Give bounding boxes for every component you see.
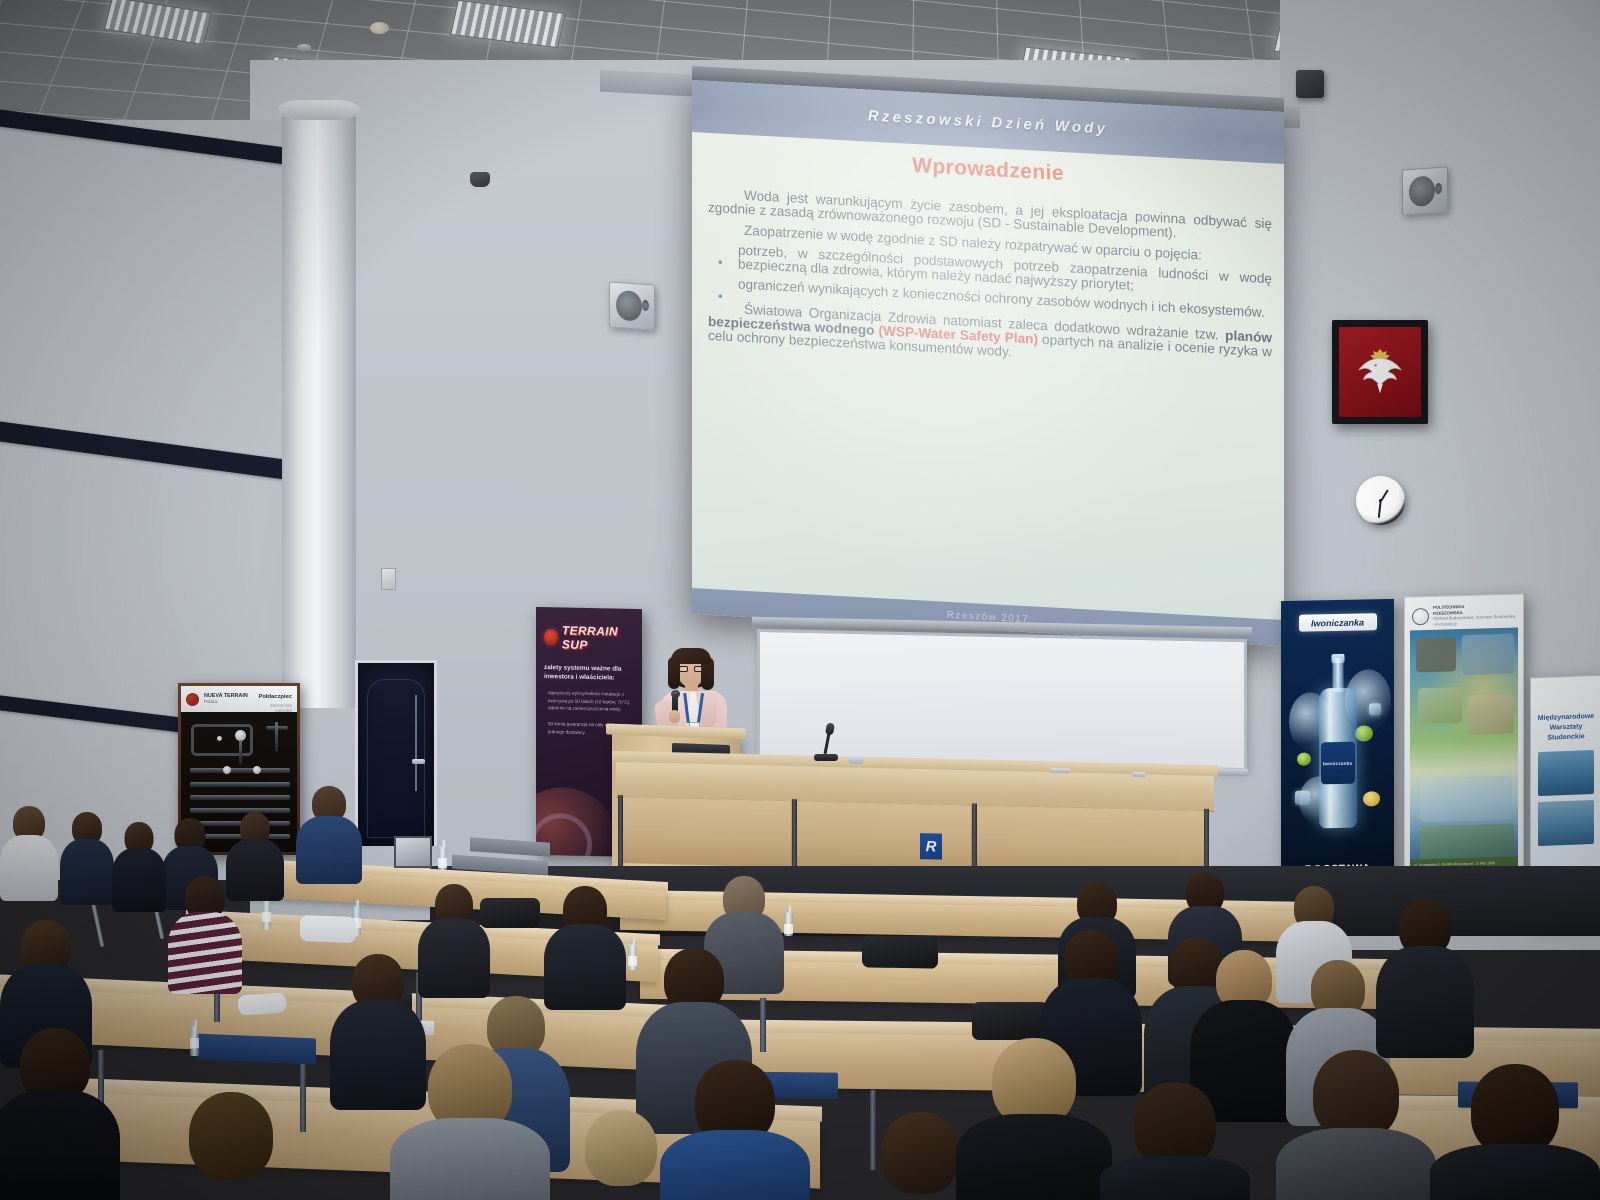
polish-coat-of-arms-emblem — [1332, 320, 1428, 424]
desk-object — [848, 756, 864, 764]
audience-member — [956, 1038, 1112, 1200]
person-torso — [0, 835, 58, 901]
demo-brand-sub: Polska — [204, 699, 217, 704]
person-torso — [660, 1130, 810, 1200]
person-torso — [60, 839, 114, 905]
person-torso — [112, 848, 166, 912]
person-head — [585, 1110, 657, 1186]
audience-member — [1100, 1082, 1250, 1200]
structural-column — [282, 108, 356, 708]
presentation-slide: Rzeszowski Dzień Wody Wprowadzenie Woda … — [692, 80, 1284, 646]
terrain-badge-icon — [544, 629, 558, 645]
presenter-desk: R — [612, 751, 1218, 877]
banner-iwoniczanka: Iwoniczanka Iwoniczanka Z DOSTAWĄ DO DOM… — [1281, 599, 1394, 911]
lemon-slice-icon — [1363, 791, 1380, 806]
audience-member — [544, 886, 626, 1004]
pipe-row — [190, 782, 290, 787]
audience-member — [0, 806, 58, 898]
lecture-hall-door[interactable] — [355, 660, 437, 846]
water-bottle[interactable] — [262, 900, 271, 930]
lime-slice-icon — [1297, 753, 1311, 766]
slide-body: Woda jest warunkującym życie zasobem, a … — [708, 187, 1272, 380]
person-head — [1471, 1064, 1559, 1156]
warsztaty-photo-2 — [1538, 800, 1594, 846]
wall-switch-plate[interactable] — [381, 568, 396, 590]
audience-member — [156, 1092, 306, 1200]
presenter-hand — [669, 710, 680, 723]
person-torso — [1376, 946, 1474, 1058]
person-torso — [168, 912, 242, 994]
audience-member — [390, 1044, 550, 1200]
pipe-joint-icon — [253, 766, 261, 774]
wall-speaker-left — [609, 281, 655, 330]
terrain-brand-name: TERRAIN SUP — [562, 623, 636, 653]
glasses-lens-right — [694, 666, 703, 672]
pipe-loop — [191, 724, 253, 756]
audience-member — [168, 876, 242, 988]
desk-object — [1132, 772, 1146, 777]
org-line-3: Wydział Budownictwa, Inżynierii Środowis… — [1433, 614, 1517, 628]
terrain-headline: zalety systemu ważne dla inwestora i wła… — [544, 664, 634, 683]
glasses-lens-left — [679, 666, 688, 672]
bench-leg — [760, 998, 766, 1052]
collage-photo — [1468, 694, 1514, 735]
demo-board-brand: NUEVA TERRAIN Polska — [204, 693, 253, 705]
pipe-row — [190, 795, 290, 800]
audience-member — [1430, 1064, 1600, 1200]
projector-mount — [1296, 70, 1324, 98]
collage-photo — [1416, 637, 1456, 672]
bottle-label: Iwoniczanka — [1321, 742, 1355, 785]
ice-cube-icon — [1369, 703, 1381, 715]
desk-panel — [620, 797, 792, 867]
eco-banner-titles: POLITECHNIKA RZESZOWSKA Wydział Budownic… — [1433, 603, 1517, 628]
person-torso — [0, 1090, 120, 1200]
pipe-manifold — [275, 722, 278, 752]
warsztaty-line-3: Studenckie — [1537, 732, 1595, 744]
lecture-hall-photo: Rzeszowski Dzień Wody Wprowadzenie Woda … — [0, 0, 1600, 1200]
bench-seat — [196, 1033, 316, 1064]
wall-clock — [1356, 476, 1405, 525]
desk-leg — [972, 803, 977, 875]
microphone-capsule — [825, 722, 835, 735]
eco-banner-header: POLITECHNIKA RZESZOWSKA Wydział Budownic… — [1405, 594, 1523, 628]
warsztaty-title: Międzynarodowe Warsztaty Studenckie — [1537, 712, 1595, 745]
person-head — [992, 1038, 1076, 1126]
glasses-icon — [679, 666, 703, 672]
audience-member — [60, 812, 114, 902]
clock-center-pin — [1379, 499, 1382, 502]
water-bottle[interactable] — [438, 846, 447, 870]
framed-photo — [394, 836, 432, 868]
terrain-logo-row: TERRAIN SUP — [536, 607, 642, 653]
audience-member — [0, 1028, 120, 1200]
door-handle[interactable] — [412, 759, 425, 764]
eagle-icon — [1349, 341, 1411, 403]
person-torso — [296, 816, 362, 884]
desk-object — [1050, 768, 1070, 773]
microphone-base — [814, 754, 838, 761]
person-torso — [1276, 1128, 1436, 1200]
demo-brand-name: NUEVA TERRAIN — [204, 693, 248, 699]
audience-member — [1376, 900, 1474, 1050]
handbag — [972, 1002, 1048, 1040]
ice-cube-icon — [1295, 791, 1310, 805]
gooseneck-microphone — [806, 726, 848, 770]
person-head — [881, 1112, 959, 1194]
person-torso — [1100, 1156, 1250, 1200]
demo-brand2-name: Połdaczpiec — [258, 694, 292, 700]
audience-member — [660, 1060, 810, 1200]
audience-member — [296, 786, 362, 880]
column-capital — [278, 100, 360, 120]
speaker-tweeter — [1435, 183, 1442, 195]
audience-member — [112, 822, 166, 910]
speaker-tweeter — [642, 300, 649, 312]
pipe-vertical-drop — [239, 740, 242, 764]
nueva-terrain-logo-icon — [186, 693, 199, 706]
speaker-grille — [616, 290, 642, 322]
slide-header-text: Rzeszowski Dzień Wody — [868, 107, 1108, 137]
eco-banner-photo-collage — [1410, 627, 1518, 872]
person-head — [1313, 1050, 1399, 1140]
collage-photo — [1462, 634, 1514, 675]
collage-photo — [1420, 776, 1512, 823]
white-scarf — [237, 992, 286, 1015]
security-camera-icon — [470, 172, 490, 187]
iwoniczanka-logo: Iwoniczanka — [1299, 613, 1377, 631]
ceiling-fixture — [297, 44, 311, 51]
pipe-joint-icon — [223, 766, 231, 774]
person-torso — [1430, 1144, 1600, 1200]
projection-screen: Rzeszowski Dzień Wody Wprowadzenie Woda … — [692, 80, 1284, 646]
water-bottle[interactable] — [190, 1026, 199, 1056]
desk-leg — [792, 799, 797, 871]
person-torso — [390, 1118, 550, 1200]
laptop-bag — [862, 935, 938, 968]
water-bottle-graphic: Iwoniczanka — [1319, 658, 1357, 829]
desk-leg — [618, 795, 623, 867]
presenter-fringe — [671, 648, 711, 664]
clock-minute-hand — [1378, 500, 1381, 517]
terrain-bullet-1: najwyższej wytrzymałości instalacje z tw… — [548, 689, 634, 714]
wall-speaker-right — [1402, 166, 1448, 215]
person-torso — [956, 1114, 1112, 1200]
desk-panel — [796, 801, 972, 871]
pipe-row — [190, 768, 290, 773]
desk-university-logo-icon: R — [920, 833, 942, 860]
speaker-grille — [1409, 175, 1435, 207]
lime-slice-icon — [1355, 725, 1373, 741]
collage-photo — [1418, 687, 1462, 724]
water-bottle[interactable] — [784, 912, 793, 936]
emblem-red-field — [1339, 327, 1421, 417]
door-push-bar — [415, 695, 417, 791]
warsztaty-photo-1 — [1538, 750, 1594, 796]
audience-member — [418, 884, 490, 992]
audience-member — [1276, 1050, 1436, 1200]
demo-board-brand2: Połdaczpiec Montaż bez narzędzi! — [258, 685, 292, 713]
university-seal-icon — [1412, 608, 1429, 625]
person-torso — [418, 918, 490, 998]
smoke-detector — [370, 22, 389, 34]
demo-board-header: NUEVA TERRAIN Polska Połdaczpiec Montaż … — [181, 686, 297, 712]
pipe-fitting-icon — [217, 736, 222, 741]
white-garment — [300, 915, 356, 943]
person-head — [189, 1092, 273, 1180]
